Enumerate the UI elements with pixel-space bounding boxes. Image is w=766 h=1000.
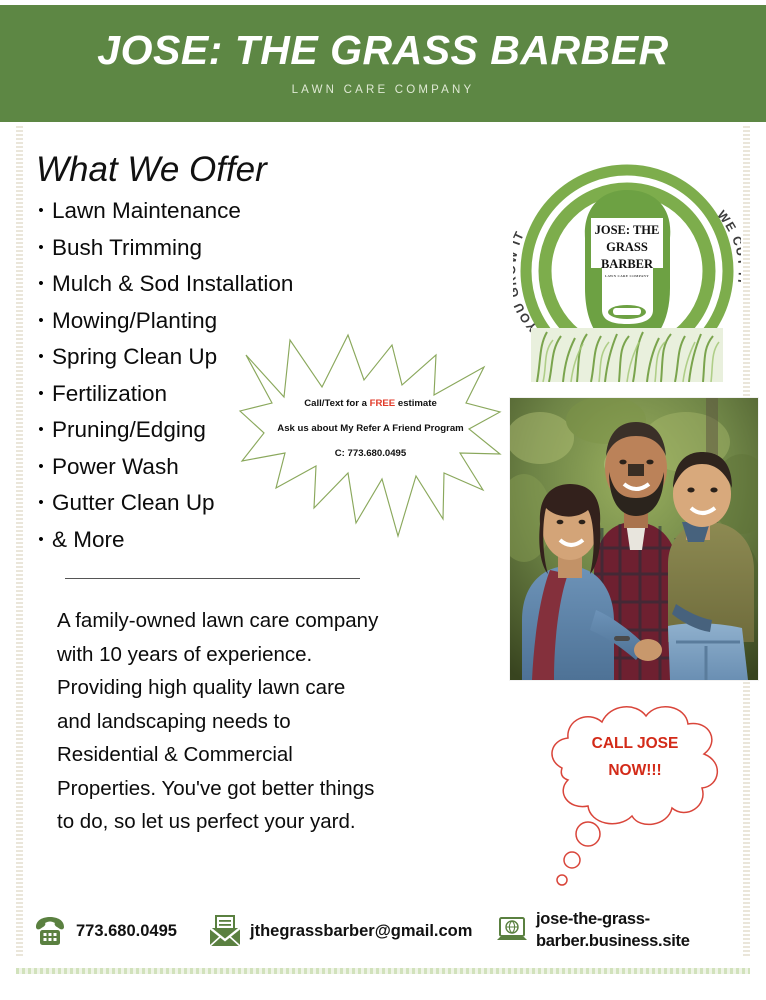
offers-heading: What We Offer [36,150,267,190]
service-item: •Mulch & Sod Installation [30,271,430,308]
starburst-line-3: C: 773.680.0495 [238,441,503,466]
bullet-icon: • [30,459,52,474]
starburst-free-highlight: FREE [370,398,396,409]
company-subtitle: LAWN CARE COMPANY [0,84,766,96]
service-label: Power Wash [52,454,179,480]
bullet-icon: • [30,386,52,401]
service-label: Spring Clean Up [52,344,217,370]
telephone-icon [33,916,67,946]
service-label: Gutter Clean Up [52,490,215,516]
starburst-line-1-before: Call/Text for a [304,398,369,409]
laptop-icon [497,916,527,944]
bullet-icon: • [30,495,52,510]
starburst-line-1-after: estimate [395,398,437,409]
bullet-icon: • [30,276,52,291]
thought-bubble-text: CALL JOSE NOW!!! [560,730,710,784]
family-photo [510,398,758,680]
envelope-icon [209,914,241,948]
footer-website-text: jose-the-grass- barber.business.site [536,908,690,952]
bullet-icon: • [30,313,52,328]
bullet-icon: • [30,422,52,437]
service-label: Fertilization [52,381,167,407]
service-label: Lawn Maintenance [52,198,241,224]
starburst-line-1: Call/Text for a FREE estimate [238,391,503,416]
left-stitched-border [16,126,23,956]
logo-name-line-3: BARBER [577,256,677,273]
bubble-line-1: CALL JOSE [560,730,710,757]
service-label: Mowing/Planting [52,308,217,334]
flyer-page: JOSE: THE GRASS BARBER LAWN CARE COMPANY… [0,0,766,1000]
thought-bubble-shape [532,694,744,894]
about-paragraph: A family-owned lawn care company with 10… [57,604,467,839]
bullet-icon: • [30,240,52,255]
service-item: •Bush Trimming [30,235,430,272]
service-item: •Lawn Maintenance [30,198,430,235]
footer-website-block[interactable]: jose-the-grass- barber.business.site [497,908,690,952]
company-title: JOSE: THE GRASS BARBER [0,27,766,74]
starburst-callout: Call/Text for a FREE estimate Ask us abo… [238,333,503,538]
starburst-text: Call/Text for a FREE estimate Ask us abo… [238,391,503,466]
service-label: Mulch & Sod Installation [52,271,293,297]
bullet-icon: • [30,203,52,218]
bullet-icon: • [30,532,52,547]
company-logo: YOU GROW IT WE CUT IT [513,160,741,382]
logo-name-line-1: JOSE: THE [577,222,677,239]
starburst-line-2: Ask us about My Refer A Friend Program [238,416,503,441]
bottom-zigzag-border [16,968,750,974]
footer-email-block[interactable]: jthegrassbarber@gmail.com [209,914,472,948]
flyer-footer: 773.680.0495 jthegrassbarber@gmai [0,904,766,966]
bubble-line-2: NOW!!! [560,757,710,784]
logo-name-line-2: GRASS [577,239,677,256]
family-photo-image [510,398,758,680]
logo-name-block: JOSE: THE GRASS BARBER LAWN CARE COMPANY [577,222,677,279]
footer-phone-text: 773.680.0495 [76,922,177,941]
service-label: Bush Trimming [52,235,202,261]
service-label: & More [52,527,125,553]
flyer-header: JOSE: THE GRASS BARBER LAWN CARE COMPANY [0,5,766,122]
bullet-icon: • [30,349,52,364]
footer-email-text: jthegrassbarber@gmail.com [250,922,472,941]
section-divider [65,578,360,579]
service-label: Pruning/Edging [52,417,206,443]
footer-phone-block[interactable]: 773.680.0495 [33,916,177,946]
logo-tagline: LAWN CARE COMPANY [577,273,677,279]
thought-bubble-callout: CALL JOSE NOW!!! [532,694,744,894]
